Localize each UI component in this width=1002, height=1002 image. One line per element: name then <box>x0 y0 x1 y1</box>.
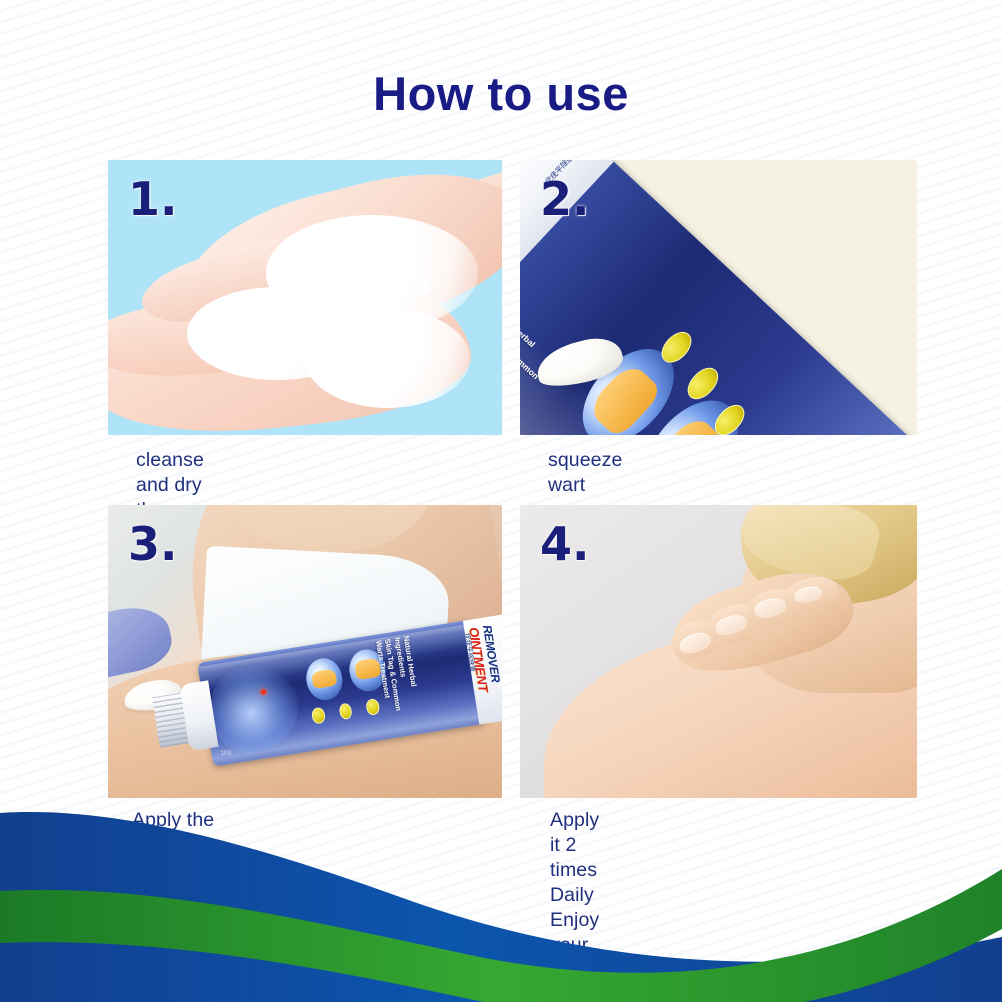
step-3-number: 3. <box>128 517 177 571</box>
step-4-number: 4. <box>540 517 589 571</box>
feature-badge-2 <box>682 362 723 404</box>
bottom-swoosh-decoration <box>0 787 1002 1002</box>
step-3-photo: Natural Herbal Ingredients Skin Tag & Co… <box>108 505 502 798</box>
feature-badge-1 <box>311 707 326 725</box>
page-title: How to use <box>0 66 1002 121</box>
steps-grid: 1. cleanse and dry the affexted area <box>108 160 918 860</box>
feature-badge-2 <box>338 703 353 721</box>
how-to-use-poster: How to use 1. cleanse and dry the affext… <box>0 0 1002 1002</box>
step-4-photo: 4. <box>520 505 917 798</box>
step-1-number: 1. <box>128 172 177 226</box>
tube-net-weight: 20g <box>220 749 232 758</box>
step-2-photo: Natural Herbal Ingredients Skin Tag & Co… <box>520 160 917 435</box>
step-2-number: 2. <box>540 172 589 226</box>
feature-badge-3 <box>366 698 381 716</box>
step-1-photo: 1. <box>108 160 502 435</box>
